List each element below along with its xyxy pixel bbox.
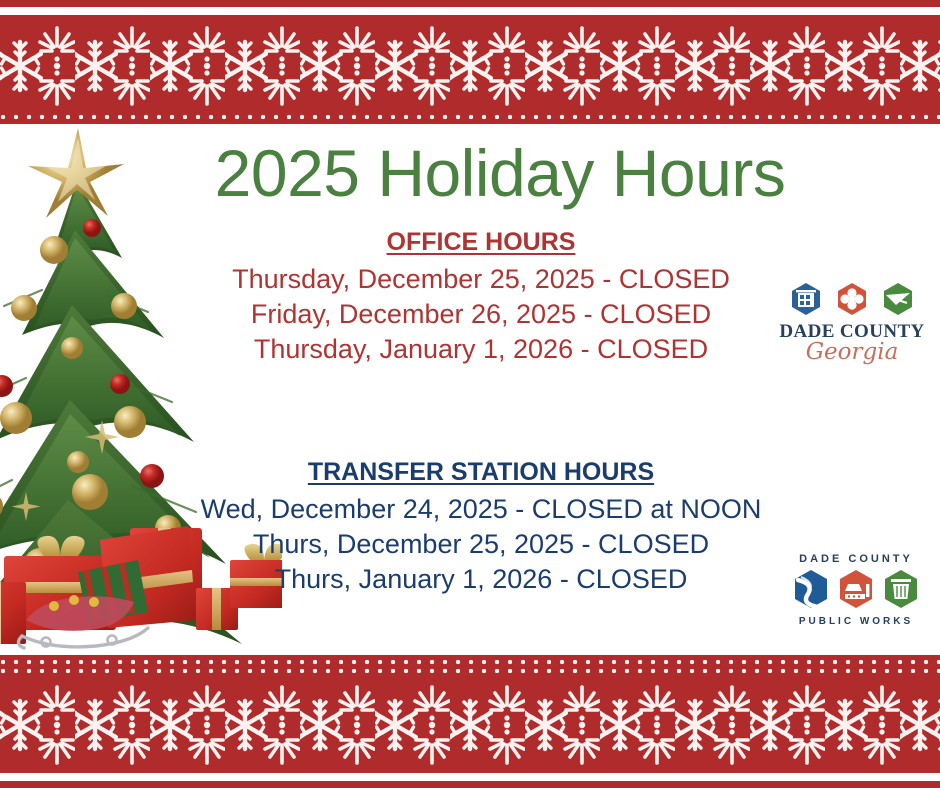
courthouse-icon bbox=[792, 283, 820, 315]
top-white-gap bbox=[0, 7, 940, 15]
snowflake-pattern-icon bbox=[0, 18, 940, 114]
dade-county-georgia-logo: DADE COUNTY Georgia bbox=[776, 273, 928, 373]
road-icon bbox=[795, 570, 827, 608]
bottom-dot-row-2 bbox=[0, 668, 940, 674]
county-logo-line2: Georgia bbox=[806, 339, 899, 365]
hang-glider-icon bbox=[884, 283, 912, 315]
public-works-top-text: DADE COUNTY bbox=[799, 553, 913, 565]
transfer-station-heading: TRANSFER STATION HOURS bbox=[22, 458, 940, 488]
bottom-snowflake-border bbox=[0, 655, 940, 788]
snowflake-pattern-icon bbox=[0, 677, 940, 773]
bottom-dot-row-1 bbox=[0, 659, 940, 665]
flower-icon bbox=[838, 283, 866, 315]
dade-county-public-works-logo: DADE COUNTY bbox=[781, 548, 931, 644]
trash-can-icon bbox=[885, 570, 917, 608]
top-snowflake-border bbox=[0, 0, 940, 124]
top-red-band bbox=[0, 15, 940, 124]
bottom-white-gap bbox=[0, 773, 940, 781]
holiday-hours-poster: 2025 Holiday Hours OFFICE HOURS Thursday… bbox=[0, 0, 940, 788]
public-works-bottom-text: PUBLIC WORKS bbox=[799, 616, 913, 627]
office-hours-heading: OFFICE HOURS bbox=[22, 228, 940, 258]
bottom-red-band bbox=[0, 655, 940, 773]
bulldozer-icon bbox=[840, 570, 872, 608]
transfer-station-line: Wed, December 24, 2025 - CLOSED at NOON bbox=[22, 492, 940, 527]
top-thin-stripe bbox=[0, 0, 940, 7]
bottom-thin-stripe bbox=[0, 781, 940, 788]
page-title: 2025 Holiday Hours bbox=[0, 140, 940, 206]
